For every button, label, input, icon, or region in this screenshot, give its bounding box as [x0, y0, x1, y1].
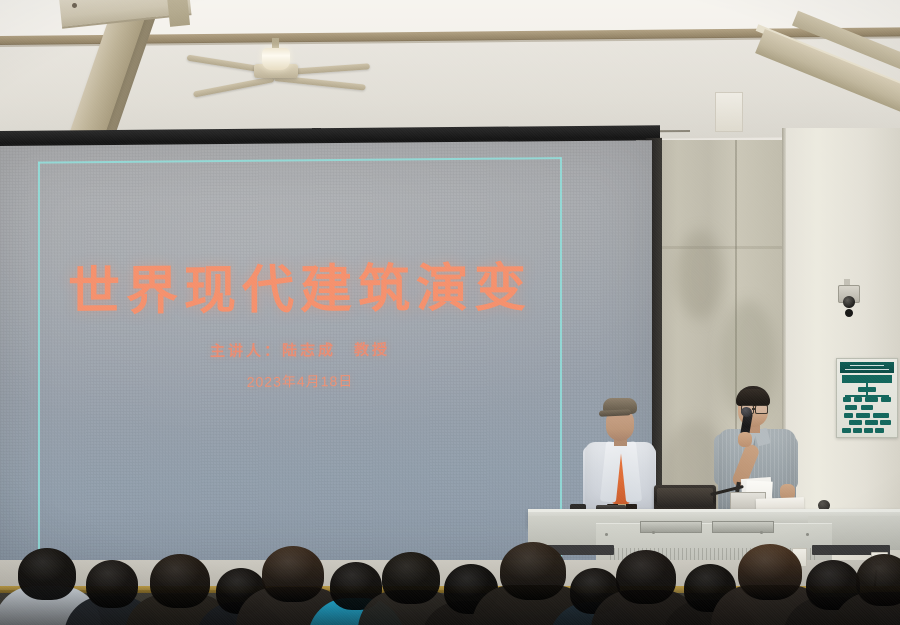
- audience-member-head: [738, 544, 802, 600]
- safety-information-board: [836, 358, 898, 438]
- board-node: [873, 413, 889, 418]
- camera-lens-icon: [843, 296, 855, 308]
- audience-member-head: [150, 554, 210, 608]
- audience-member-head: [18, 548, 76, 600]
- glasses-bridge: [752, 408, 755, 410]
- audience-member-head: [856, 554, 900, 606]
- pillar-form-line: [655, 246, 782, 249]
- ceiling: [0, 0, 900, 145]
- camera-sensor-icon: [845, 309, 853, 317]
- audience-member-head: [262, 546, 324, 602]
- lecture-hall-photo: 世界现代建筑演变 主讲人：陆志成 教授 2023年4月18日: [0, 0, 900, 625]
- board-node: [875, 428, 884, 433]
- board-node: [854, 397, 862, 402]
- board-node: [853, 428, 862, 433]
- fan-light-icon: [262, 48, 290, 70]
- board-node: [861, 405, 873, 410]
- board-node: [849, 420, 862, 425]
- console-top-highlight: [528, 509, 900, 512]
- board-node: [844, 413, 853, 418]
- board-header: [840, 362, 894, 373]
- fan-blade: [193, 76, 275, 98]
- audience-member-head: [616, 550, 676, 604]
- board-node: [864, 428, 873, 433]
- board-node: [843, 397, 851, 402]
- audience-member-head: [382, 552, 440, 604]
- board-node: [856, 413, 870, 418]
- audience-member-head: [86, 560, 138, 608]
- ceiling-wall-plate: [715, 92, 743, 132]
- board-node: [880, 420, 891, 425]
- projection-screen[interactable]: 世界现代建筑演变 主讲人：陆志成 教授 2023年4月18日: [0, 140, 652, 566]
- board-node: [865, 397, 878, 402]
- projector-mount-screw: [72, 3, 77, 8]
- projector-soffit-side: [166, 0, 190, 27]
- pillar-stain: [676, 230, 724, 320]
- seated-audience: [0, 520, 900, 625]
- board-node: [845, 405, 857, 410]
- speaker-hair-top: [736, 389, 770, 401]
- board-node: [842, 428, 851, 433]
- board-node: [881, 397, 891, 402]
- board-node: [865, 420, 878, 425]
- console-monitor-screen: [657, 488, 713, 507]
- audience-member-head: [500, 542, 566, 600]
- glasses-icon: [755, 405, 768, 414]
- slide-title: 世界现代建筑演变: [0, 245, 600, 325]
- board-subtitle-bar: [842, 375, 892, 383]
- speaker-hand: [738, 432, 752, 447]
- ceiling-fan: [196, 44, 356, 104]
